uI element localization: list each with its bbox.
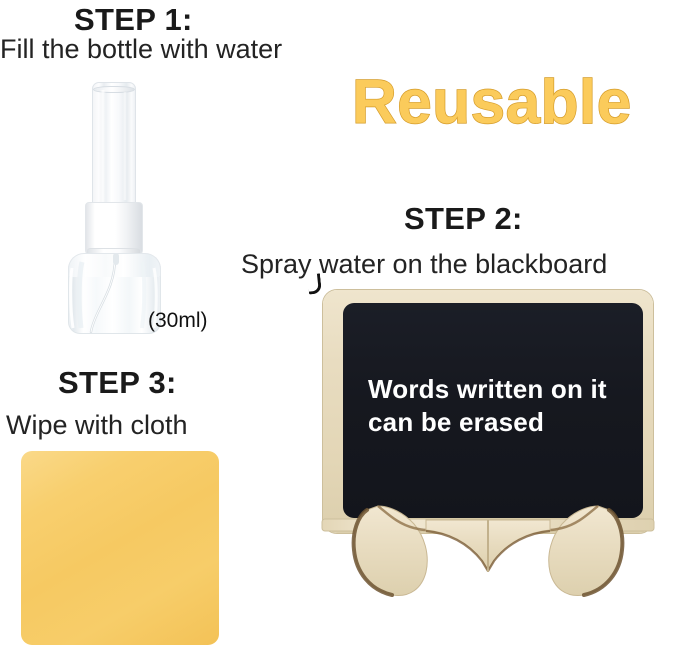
bottle-dip-tube [66, 82, 166, 334]
step-1-description: Fill the bottle with water [0, 34, 282, 65]
chalkboard-surface: Words written on it can be erased [343, 303, 643, 518]
step-1-heading: STEP 1: [74, 2, 193, 38]
chalkboard-frame: Words written on it can be erased [323, 290, 653, 533]
easel-stand [318, 502, 658, 600]
bottle-capacity-label: (30ml) [148, 309, 208, 333]
step-3-heading: STEP 3: [58, 365, 177, 401]
ink-artifact [307, 273, 322, 294]
step-3-description: Wipe with cloth [6, 410, 188, 441]
chalkboard-easel-icon: Words written on it can be erased [318, 290, 658, 600]
chalkboard-text: Words written on it can be erased [368, 373, 633, 438]
spray-bottle-icon [66, 82, 166, 334]
step-2-heading: STEP 2: [404, 201, 523, 237]
product-infographic: STEP 1: Fill the bottle with water Reusa… [0, 0, 679, 652]
step-2-description: Spray water on the blackboard [241, 249, 607, 280]
reusable-headline: Reusable [352, 72, 632, 134]
cleaning-cloth-icon [21, 451, 219, 645]
